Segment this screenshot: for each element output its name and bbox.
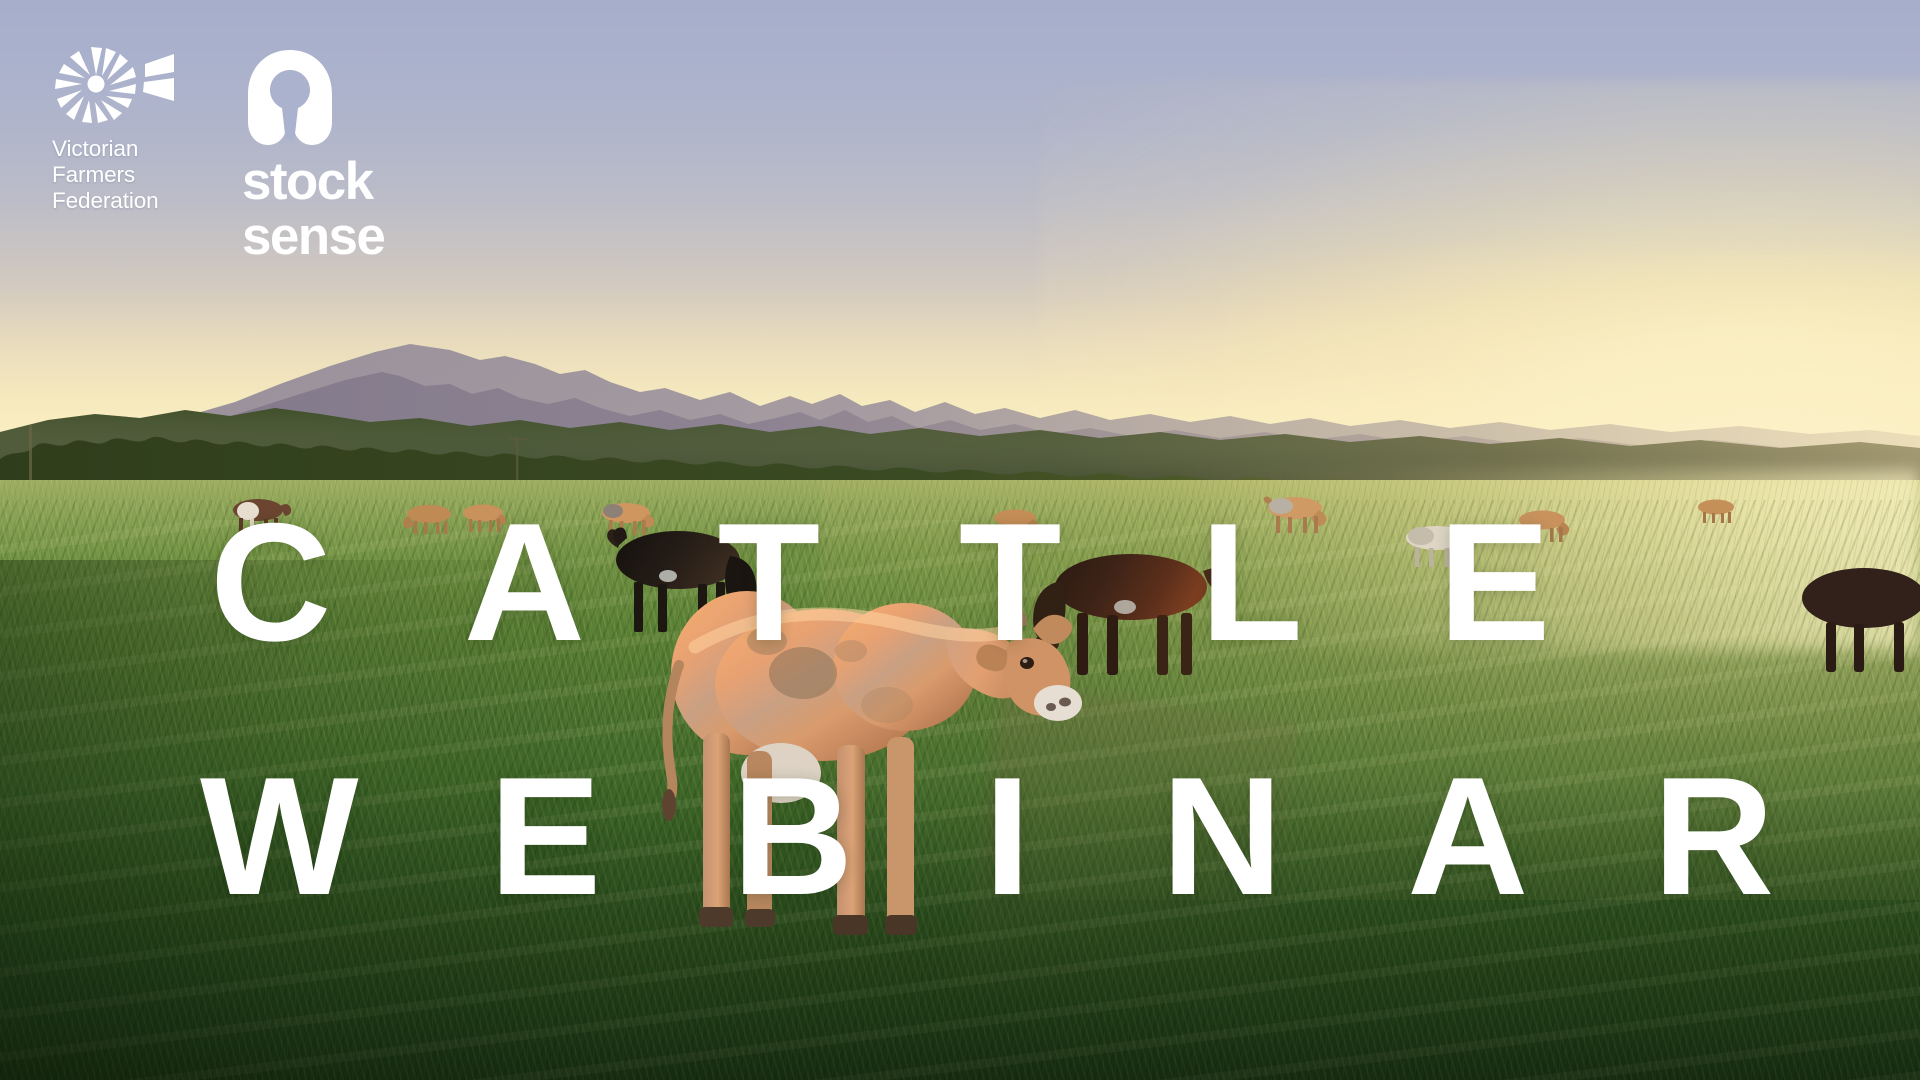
- cow-far-midright: [985, 505, 1045, 539]
- stocksense-line-1: stock: [242, 154, 442, 209]
- banner-canvas: Victorian Farmers Federation stock sense…: [0, 0, 1920, 1080]
- cow-brown-white-left: [222, 492, 294, 536]
- vff-line-3: Federation: [52, 188, 212, 214]
- cow-pale-right: [1395, 520, 1483, 572]
- vff-line-1: Victorian: [52, 136, 212, 162]
- keyhole-icon: [244, 48, 336, 148]
- cow-dark-far-right: [1790, 560, 1920, 675]
- stocksense-line-2: sense: [242, 209, 442, 264]
- vff-line-2: Farmers: [52, 162, 212, 188]
- vff-logo[interactable]: Victorian Farmers Federation: [52, 44, 212, 214]
- cow-distant-right: [1690, 495, 1742, 525]
- cow-tan-far-right: [1510, 505, 1576, 545]
- cow-tan-far-left: [398, 500, 460, 536]
- windmill-icon: [52, 44, 176, 124]
- logo-bar: Victorian Farmers Federation stock sense: [52, 44, 442, 264]
- jersey-cow-foreground: [655, 555, 1095, 985]
- vff-wordmark: Victorian Farmers Federation: [52, 136, 212, 214]
- stocksense-wordmark: stock sense: [242, 154, 442, 264]
- stocksense-logo[interactable]: stock sense: [242, 44, 442, 264]
- cow-tan-left: [455, 500, 511, 534]
- cow-tan-right: [1259, 492, 1337, 538]
